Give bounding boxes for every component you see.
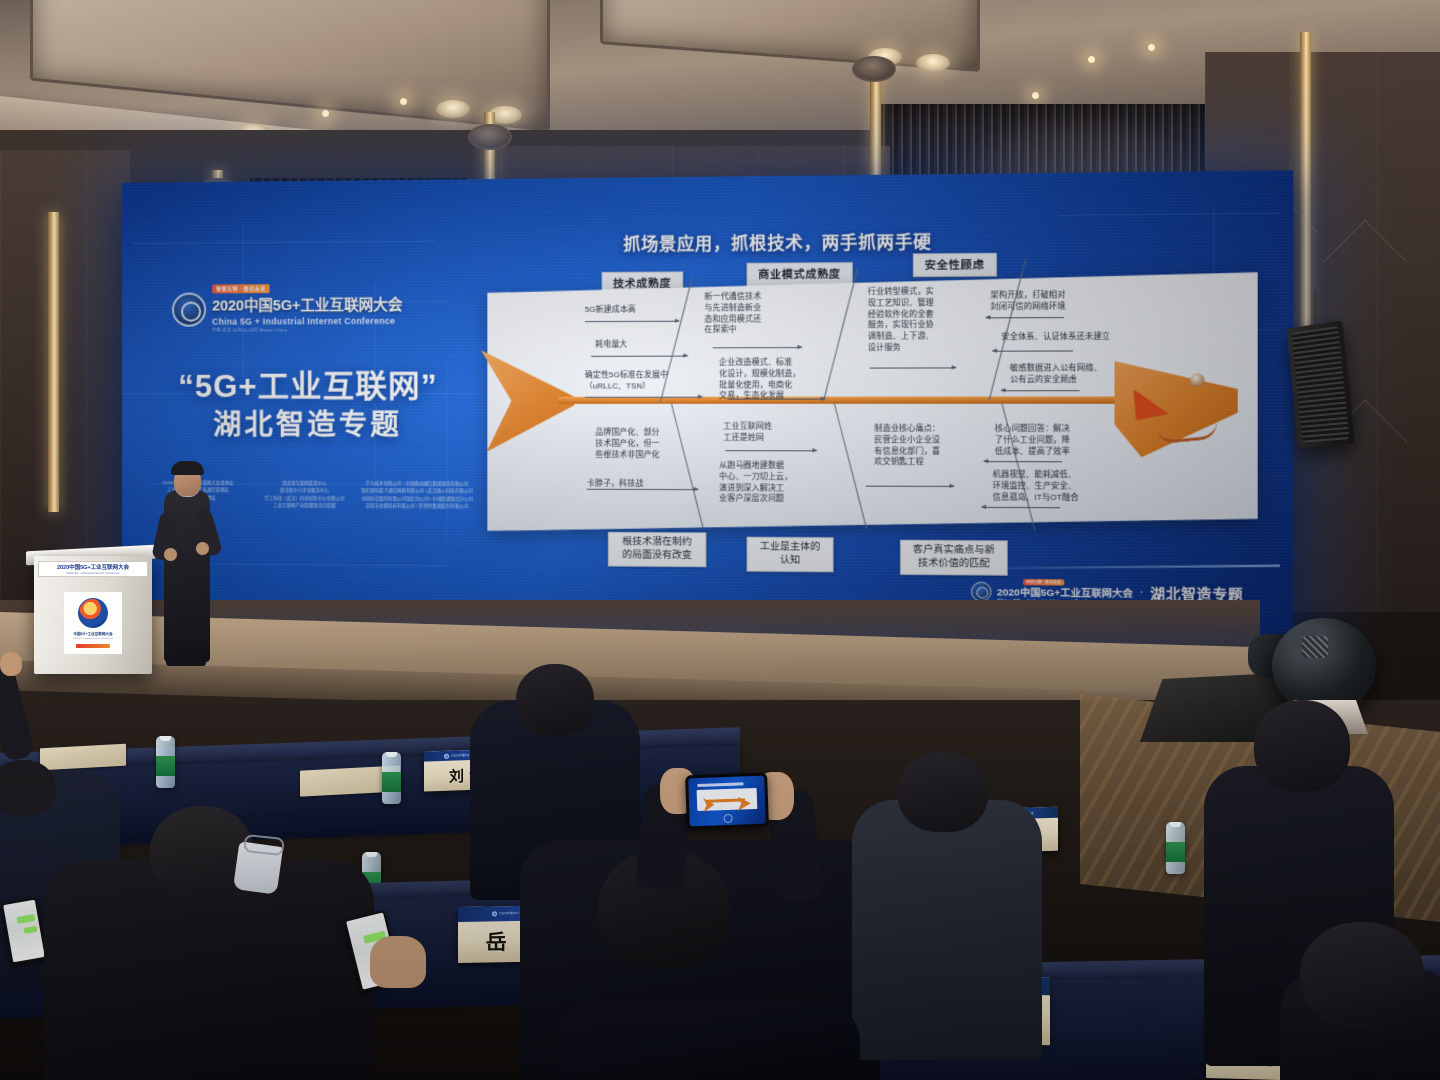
fishbone-note: 安全体系、认证体系还未建立	[1001, 332, 1110, 344]
podium: 2020中国5G+工业互联网大会 China 5G + Industrial I…	[34, 556, 152, 674]
sponsor-line: 深圳市金蝶科技有限公司 / 罗普特集团股份有限公司	[361, 502, 473, 510]
podium-logo-bar	[76, 644, 110, 648]
audience-person-head	[1254, 700, 1350, 792]
phone-slide-card	[697, 788, 757, 810]
footer-separator: ·	[1140, 586, 1144, 599]
fishbone-note: 敏感数据进入公有网络、 公有云的安全顾虑	[1010, 363, 1102, 386]
phone-screen-slide-mirror[interactable]	[688, 776, 766, 827]
column-cap	[468, 124, 512, 150]
pinlight-icon	[400, 98, 407, 105]
podium-banner-cn: 2020中国5G+工业互联网大会	[57, 563, 129, 571]
audience-phone-recording[interactable]	[685, 773, 769, 830]
water-bottle	[156, 736, 175, 788]
pinlight-icon	[1148, 44, 1155, 51]
podium-logo-card: 中国5G+工业互联网大会 China 5G + Industrial Inter…	[64, 592, 122, 654]
fishbone-note: 制造业核心痛点： 民营企业小企业没 有信息化部门，喜 欢交钥匙工程	[874, 424, 940, 469]
fishbone-arrow	[870, 367, 956, 368]
wall-chevron-motif	[1323, 220, 1408, 305]
brand-subtitle: 中国·武汉 11月20-23日 Wuhan China	[212, 327, 402, 334]
fishbone-rib	[823, 268, 858, 401]
audience-person-head	[516, 664, 594, 736]
fishbone-arrow	[984, 461, 1062, 462]
audience-hand	[0, 652, 22, 676]
conference-seal-icon	[444, 753, 449, 758]
led-screen-content: 智联万物 · 数化未来 2020中国5G+工业互联网大会 China 5G + …	[122, 170, 1293, 647]
ptz-camera	[1272, 618, 1376, 714]
bottom-box-line: 根技术潜在制约	[617, 536, 697, 550]
brand-kicker: 智联万物 · 数化未来	[212, 284, 269, 293]
sponsor-line: 工业互联网产业联盟湖北分联盟	[254, 501, 355, 509]
fishbone-bottom-box: 工业是主体的 认知	[747, 537, 834, 572]
fishbone-arrow	[587, 489, 698, 490]
audience-hand	[370, 936, 426, 988]
fishbone-note: 架构开放，打破相对 封闭可信的网络环境	[990, 290, 1065, 313]
brand-title-cn: 2020中国5G+工业互联网大会	[212, 293, 402, 315]
audience-person-head	[898, 752, 988, 832]
conference-seal-icon	[492, 911, 497, 916]
sponsor-column: 支持单位 华为技术有限公司 / 中国移动通信集团湖北有限公司 湖北国科量子通信网…	[361, 480, 473, 510]
conference-hall-photo: 智联万物 · 数化未来 2020中国5G+工业互联网大会 China 5G + …	[0, 0, 1440, 1080]
chat-bubble	[23, 926, 37, 934]
column-cap	[852, 56, 896, 82]
screen-headline-line1: “5G+工业互联网”	[140, 360, 477, 406]
audience-person-torso	[560, 1000, 860, 1080]
bottom-box-line: 客户真实痛点与新	[910, 544, 998, 558]
fishbone-rib	[834, 403, 868, 530]
fishbone-arrow	[993, 350, 1073, 351]
fishbone-arrow	[591, 356, 687, 357]
fishbone-arrow	[982, 507, 1060, 508]
fishbone-note: 确定性5G标准在发展中 （uRLLC、TSN）	[585, 370, 668, 392]
pinlight-icon	[322, 110, 329, 117]
fishbone-arrow	[585, 397, 702, 398]
fishbone-note: 机器视觉、能耗减低、 环境监控、生产安全、 信息孤岛、IT与OT融合	[993, 469, 1079, 503]
phone-screen[interactable]	[3, 900, 45, 963]
fishbone-bottom-box: 客户真实痛点与新 技术价值的匹配	[900, 540, 1008, 576]
audience-person-head	[0, 760, 56, 816]
downlight-icon	[436, 100, 470, 118]
camera-lens-icon	[1302, 636, 1328, 658]
pinlight-icon	[1088, 56, 1095, 63]
brand-title-en: China 5G + Industrial Internet Conferenc…	[212, 316, 402, 327]
notepad	[40, 744, 126, 771]
conference-emblem-icon	[78, 598, 108, 628]
water-bottle	[382, 752, 401, 804]
fishbone-note: 品牌国产化、部分 技术国产化，但一 些根技术非国产化	[595, 427, 659, 460]
led-stage-screen: 智联万物 · 数化未来 2020中国5G+工业互联网大会 China 5G + …	[122, 170, 1293, 647]
fishbone-arrow	[866, 486, 954, 487]
fishbone-note: 5G新建成本高	[585, 304, 636, 315]
audience-person-torso	[852, 800, 1042, 1060]
fishbone-note: 工业互联网姓 工还是姓网	[723, 421, 772, 443]
podium-logo-en: China 5G + Industrial Internet Conferenc…	[73, 638, 114, 640]
fishbone-arrow	[728, 399, 826, 400]
fishbone-arrow	[1001, 390, 1079, 391]
conference-seal-icon	[172, 292, 206, 326]
podium-banner-en: China 5G + Industrial Internet Conferenc…	[66, 571, 120, 575]
presenter-hand-left	[164, 548, 177, 561]
presenter-hand-right	[196, 542, 209, 555]
conference-seal-icon	[971, 581, 992, 601]
fishbone-arrow	[725, 450, 816, 451]
fishbone-rib	[671, 403, 704, 529]
home-button-icon[interactable]	[723, 814, 732, 823]
presentation-slide: 抓场景应用，抓根技术，两手抓两手硬 技术成熟度 商业模式成熟度 安全性顾虑	[479, 170, 1293, 647]
fishbone-bottom-box: 根技术潜在制约 的局面没有改变	[608, 532, 707, 567]
speaker-grille	[1292, 326, 1350, 443]
screen-headline-line2: 湖北智造专题	[140, 403, 477, 444]
fishbone-note: 从跑马圈地建数据 中心、一刀切上云， 演进到深入解决工 业客户深层次问题	[719, 460, 792, 505]
gold-column	[1300, 32, 1311, 362]
fishbone-note: 耗电量大	[595, 339, 627, 350]
fish-eye	[1190, 373, 1204, 387]
fishbone-category-box: 安全性顾虑	[913, 253, 997, 277]
bottom-box-line: 的局面没有改变	[617, 549, 697, 563]
fishbone-rib	[1001, 403, 1035, 531]
podium-logo-cn: 中国5G+工业互联网大会	[73, 632, 112, 637]
bottom-box-line: 工业是主体的	[756, 541, 824, 555]
fishbone-arrow	[585, 321, 679, 322]
fishbone-note: 新一代通信技术 与先进制造新业 态和应用模式还 在探索中	[704, 292, 761, 337]
podium-banner: 2020中国5G+工业互联网大会 China 5G + Industrial I…	[38, 561, 148, 577]
conference-logo-lockup: 智联万物 · 数化未来 2020中国5G+工业互联网大会 China 5G + …	[172, 283, 402, 333]
audience-person-head	[1300, 922, 1424, 1028]
fishbone-note: 核心问题回答：解决 了什么工业问题，降 低成本、提高了效率	[995, 424, 1070, 458]
fishbone-note: 行业转型模式，实 现工艺知识、管理 经验软件化的全套 服务，实现行业协 调制造、…	[868, 286, 934, 353]
presenter-cap	[171, 461, 204, 475]
fishbone-arrow	[986, 317, 1064, 318]
fishbone-card: 5G新建成本高 耗电量大 确定性5G标准在发展中 （uRLLC、TSN） 新一代…	[487, 272, 1257, 531]
fishbone-arrow	[713, 347, 802, 348]
chat-bubble	[16, 914, 35, 924]
footer-title-cn: 2020中国5G+工业互联网大会	[997, 584, 1133, 600]
speaker-rigging	[1314, 290, 1317, 328]
downlight-icon	[916, 54, 950, 72]
water-bottle	[1166, 822, 1185, 874]
phone-slide-title	[697, 782, 743, 787]
sponsor-line: 华工科技（武汉）科技创新中心有限公司	[254, 494, 355, 502]
pinlight-icon	[1032, 92, 1039, 99]
fishbone-note: 企业改造模式、标准 化设计，规模化制造， 批量化使用，电商化 交易，生态化发展	[719, 357, 800, 402]
gold-column	[48, 212, 59, 512]
bottom-box-line: 认知	[756, 554, 824, 568]
sponsor-line: 湖北国科量子通信网络有限公司 / 武汉烽火科技有限公司	[361, 487, 473, 495]
footer-kicker: 智联万物 · 数化未来	[1023, 579, 1064, 586]
fishbone-canvas: 5G新建成本高 耗电量大 确定性5G标准在发展中 （uRLLC、TSN） 新一代…	[487, 280, 1257, 527]
sponsor-column: 承办单位 湖北省互联网监管中心 湖北省中小企业服务中心 华工科技（武汉）科技创新…	[254, 479, 355, 509]
